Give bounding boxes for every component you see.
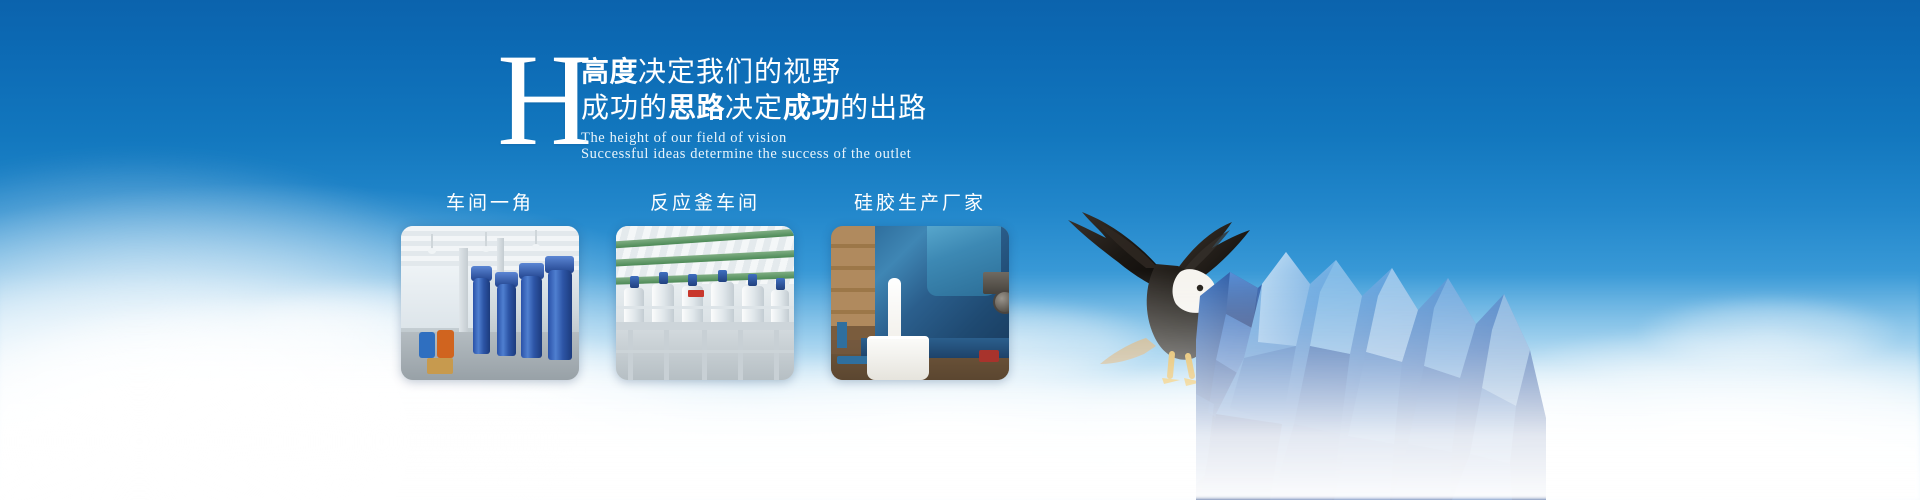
photo-card-workshop[interactable]: 车间一角 bbox=[401, 192, 579, 380]
agitator-motor bbox=[748, 274, 757, 286]
red-sign bbox=[688, 290, 704, 297]
blue-reactor-tank bbox=[473, 278, 490, 354]
slogan-line-2-prefix: 成功的 bbox=[581, 92, 668, 123]
agitator-motor bbox=[718, 270, 727, 282]
photo-card-reactor-hall[interactable]: 反应釜车间 bbox=[616, 192, 794, 380]
agitator-motor bbox=[688, 274, 697, 286]
white-bucket bbox=[867, 336, 929, 380]
slogan-line-1-emphasis: 高度 bbox=[581, 56, 638, 87]
photo-caption: 反应釜车间 bbox=[616, 192, 794, 216]
english-line-1: The height of our field of vision bbox=[581, 131, 1021, 147]
railing bbox=[616, 306, 794, 309]
support-leg bbox=[774, 330, 779, 380]
lamp-bulb-icon bbox=[428, 248, 436, 254]
slogan-line-1-rest: 决定我们的视野 bbox=[638, 56, 841, 87]
red-valve bbox=[979, 350, 999, 362]
english-line-2: Successful ideas determine the success o… bbox=[581, 147, 1021, 163]
photo-scene bbox=[616, 226, 794, 380]
slogan-lines: 高度决定我们的视野 成功的思路决定成功的出路 The height of our… bbox=[581, 54, 1021, 162]
cross-brace bbox=[616, 350, 794, 353]
slogan-line-2-emphasis-2: 成功 bbox=[783, 92, 840, 123]
reactor-hall-photo[interactable] bbox=[616, 226, 794, 380]
blue-reactor-tank bbox=[497, 284, 516, 356]
monogram-letter: H bbox=[497, 34, 592, 166]
agitator-motor bbox=[659, 272, 668, 284]
slogan-block: H 高度决定我们的视野 成功的思路决定成功的出路 The height of o… bbox=[497, 38, 1017, 178]
agitator-motor bbox=[630, 276, 639, 288]
photo-card-silicone[interactable]: 硅胶生产厂家 bbox=[831, 192, 1009, 380]
blue-reactor-tank bbox=[521, 276, 542, 358]
support-leg bbox=[664, 330, 669, 380]
photo-scene bbox=[831, 226, 1009, 380]
english-subtitle: The height of our field of vision Succes… bbox=[581, 131, 1021, 162]
fork-upright bbox=[837, 322, 847, 348]
photo-caption: 硅胶生产厂家 bbox=[831, 192, 1009, 216]
slogan-line-2: 成功的思路决定成功的出路 bbox=[581, 90, 1021, 126]
stool bbox=[427, 358, 453, 374]
lamp-bulb-icon bbox=[532, 244, 540, 250]
slogan-line-2-suffix: 的出路 bbox=[840, 92, 927, 123]
lamp-bulb-icon bbox=[482, 246, 490, 252]
platform-deck bbox=[616, 322, 794, 330]
blue-reactor-tank bbox=[548, 270, 572, 360]
silicone-machine-photo[interactable] bbox=[831, 226, 1009, 380]
agitator-motor bbox=[776, 278, 785, 290]
drum bbox=[419, 332, 435, 358]
support-leg bbox=[702, 330, 707, 380]
slogan-line-1: 高度决定我们的视野 bbox=[581, 54, 1021, 90]
workshop-reactors-photo[interactable] bbox=[401, 226, 579, 380]
hero-banner: H 高度决定我们的视野 成功的思路决定成功的出路 The height of o… bbox=[0, 0, 1920, 500]
roller-wheel bbox=[993, 290, 1009, 314]
drum bbox=[437, 330, 454, 358]
photo-scene bbox=[401, 226, 579, 380]
slogan-line-2-emphasis: 思路 bbox=[668, 92, 725, 123]
support-leg bbox=[738, 330, 743, 380]
support-leg bbox=[628, 330, 633, 380]
slogan-line-2-middle: 决定 bbox=[725, 92, 783, 123]
photo-caption: 车间一角 bbox=[401, 192, 579, 216]
